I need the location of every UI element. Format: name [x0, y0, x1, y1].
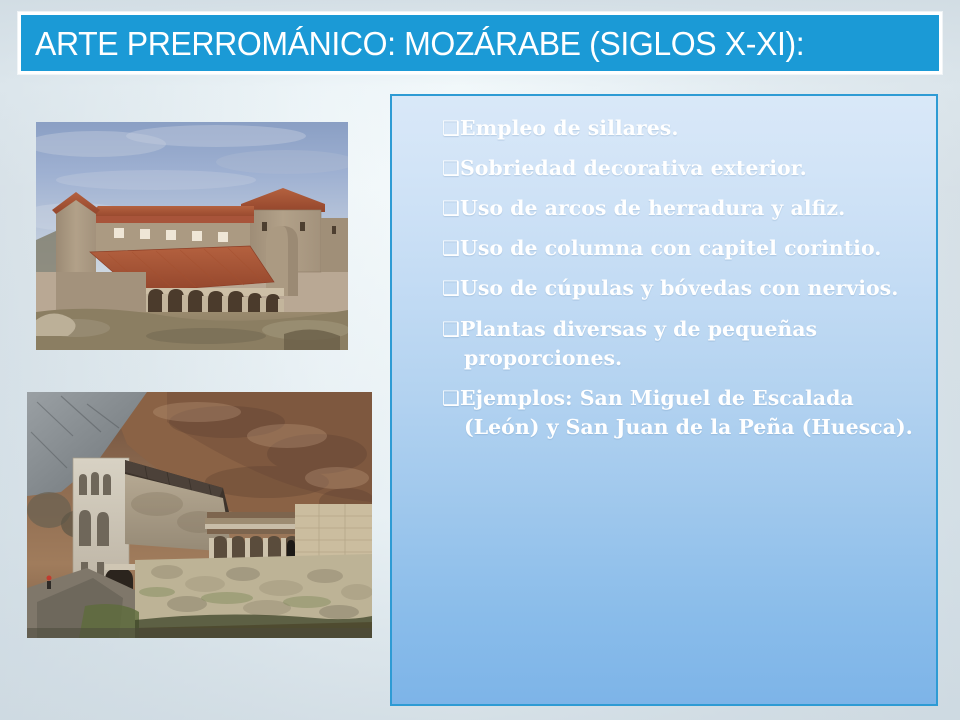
- content-panel: ❑Empleo de sillares. ❑Sobriedad decorati…: [390, 94, 938, 706]
- list-item: ❑Sobriedad decorativa exterior.: [442, 154, 918, 183]
- hollow-square-bullet-icon: ❑: [442, 156, 460, 180]
- hollow-square-bullet-icon: ❑: [442, 236, 460, 260]
- list-item: ❑Empleo de sillares.: [442, 114, 918, 143]
- feature-bullet-list: ❑Empleo de sillares. ❑Sobriedad decorati…: [442, 114, 918, 442]
- hollow-square-bullet-icon: ❑: [442, 386, 460, 410]
- list-item-label: Sobriedad decorativa exterior.: [460, 156, 807, 180]
- list-item: ❑Uso de cúpulas y bóvedas con nervios.: [442, 274, 918, 303]
- hollow-square-bullet-icon: ❑: [442, 276, 460, 300]
- list-item: ❑Ejemplos: San Miguel de Escalada (León)…: [442, 384, 918, 442]
- image-san-miguel-de-escalada: [36, 122, 348, 350]
- list-item: ❑Uso de arcos de herradura y alfiz.: [442, 194, 918, 223]
- list-item: ❑Uso de columna con capitel corintio.: [442, 234, 918, 263]
- page-title: ARTE PRERROMÁNICO: MOZÁRABE (SIGLOS X-XI…: [35, 27, 804, 60]
- slide-title-bar: ARTE PRERROMÁNICO: MOZÁRABE (SIGLOS X-XI…: [18, 12, 942, 74]
- hollow-square-bullet-icon: ❑: [442, 317, 460, 341]
- list-item-label: Uso de columna con capitel corintio.: [460, 236, 881, 260]
- list-item-label: Plantas diversas y de pequeñas proporcio…: [460, 317, 817, 370]
- list-item-label: Uso de arcos de herradura y alfiz.: [460, 196, 845, 220]
- list-item-label: Ejemplos: San Miguel de Escalada (León) …: [460, 386, 913, 439]
- hollow-square-bullet-icon: ❑: [442, 196, 460, 220]
- image-san-juan-de-la-pena: [27, 392, 372, 638]
- list-item-label: Empleo de sillares.: [460, 116, 679, 140]
- list-item-label: Uso de cúpulas y bóvedas con nervios.: [460, 276, 898, 300]
- list-item: ❑Plantas diversas y de pequeñas proporci…: [442, 315, 918, 373]
- hollow-square-bullet-icon: ❑: [442, 116, 460, 140]
